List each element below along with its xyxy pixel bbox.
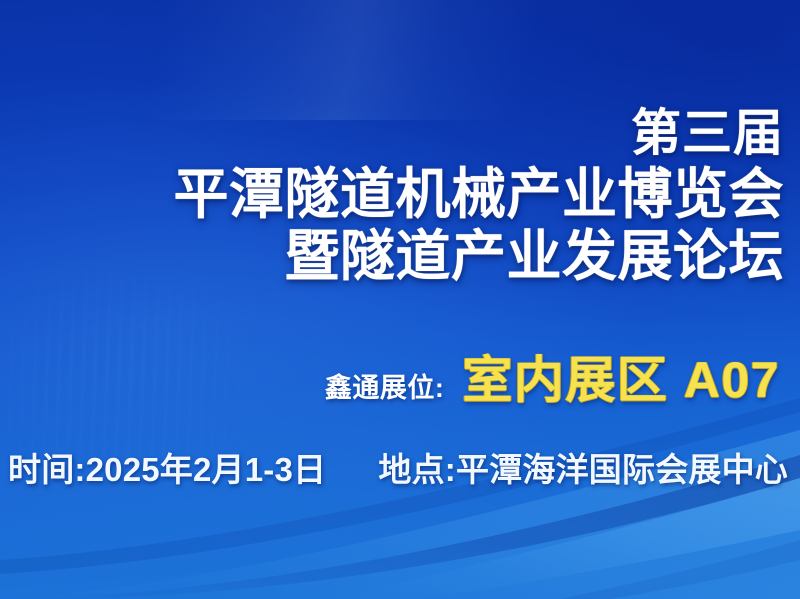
- background-sweep-ribbons: [0, 0, 800, 599]
- booth-number: 室内展区 A07: [462, 340, 780, 412]
- booth-label: 鑫通展位:: [325, 366, 445, 405]
- title-line-main: 平潭隧道机械产业博览会: [173, 167, 784, 222]
- booth-info: 鑫通展位: 室内展区 A07: [325, 340, 780, 412]
- event-poster: 第三届 平潭隧道机械产业博览会 暨隧道产业发展论坛 鑫通展位: 室内展区 A07…: [0, 0, 800, 599]
- title-line-edition: 第三届: [173, 108, 784, 158]
- event-venue: 地点:平潭海洋国际会展中心: [378, 443, 788, 491]
- event-details: 时间:2025年2月1-3日 地点:平潭海洋国际会展中心: [8, 443, 788, 491]
- poster-title: 第三届 平潭隧道机械产业博览会 暨隧道产业发展论坛: [173, 108, 784, 284]
- title-line-sub: 暨隧道产业发展论坛: [173, 229, 784, 284]
- event-date: 时间:2025年2月1-3日: [8, 443, 326, 491]
